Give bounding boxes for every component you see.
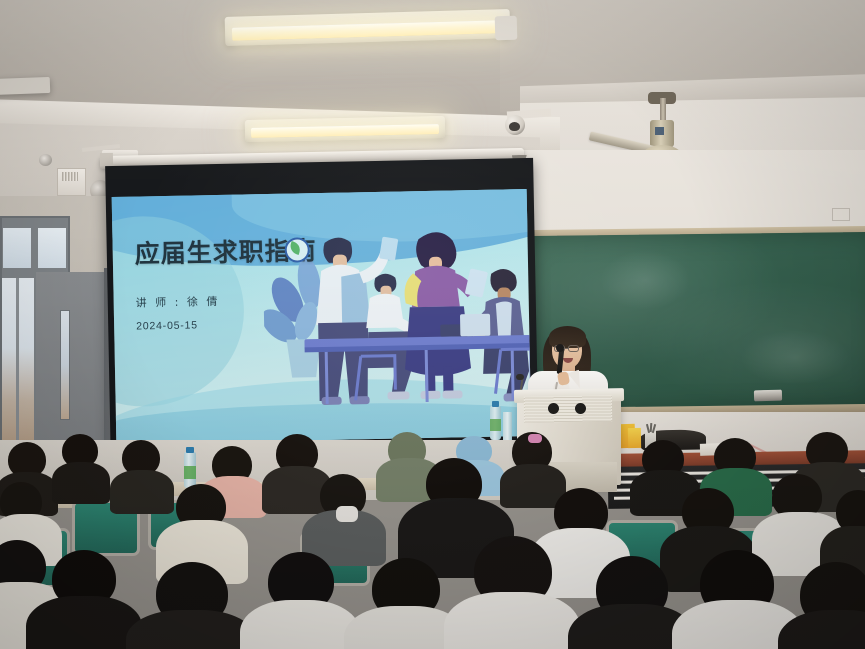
lecture-hall-photo: 应届生求职指南 讲 师 : 徐 倩 2024-05-15: [0, 0, 865, 649]
podium-microphone-icon: [516, 374, 524, 380]
dome-camera-lens: [509, 122, 520, 131]
water-bottle-cap: [492, 401, 499, 407]
chalk-eraser-icon[interactable]: [754, 390, 782, 402]
water-bottle-cap: [186, 447, 194, 453]
fluorescent-tube-far-icon: [0, 77, 50, 95]
water-bottle-label: [490, 419, 501, 431]
fluorescent-tube-endcap: [495, 16, 518, 41]
microphone-head: [556, 344, 564, 352]
podium-perforated-panel: [524, 395, 612, 423]
podium-hole: [548, 403, 559, 414]
student-body: [126, 610, 256, 649]
slide-presenter: 讲 师 : 徐 倩: [136, 293, 220, 311]
student-body: [52, 462, 110, 504]
classroom-door[interactable]: [36, 272, 108, 458]
student-body: [240, 600, 360, 649]
screen-roller-endcap: [100, 153, 113, 165]
chalk-smudge: [600, 249, 691, 310]
power-outlet-upper[interactable]: [832, 208, 850, 221]
window-mullion: [16, 278, 19, 453]
face-mask: [336, 506, 358, 522]
hair-tie: [528, 434, 542, 443]
speaker-glasses-lens: [568, 345, 579, 352]
speaker-glasses-bridge: [565, 348, 569, 349]
speaker-hand: [557, 371, 570, 386]
student-body: [444, 592, 580, 649]
student-body: [110, 470, 174, 514]
student-body: [26, 596, 142, 649]
audience: ESSENTIALS: [0, 432, 865, 649]
wall-control-box-vent: [62, 172, 78, 181]
ceiling-fan-label: [655, 127, 664, 135]
door-viewing-window: [60, 310, 70, 420]
window-pane-upper-right: [38, 228, 66, 268]
chalk-smudge: [740, 329, 851, 385]
water-bottle-label: [184, 466, 196, 479]
podium-hole: [575, 403, 586, 414]
slide-date: 2024-05-15: [136, 319, 198, 332]
projected-slide: 应届生求职指南 讲 师 : 徐 倩 2024-05-15: [112, 189, 532, 444]
window-pane-upper-left: [3, 228, 31, 268]
camera-secondary-icon: [39, 154, 52, 166]
